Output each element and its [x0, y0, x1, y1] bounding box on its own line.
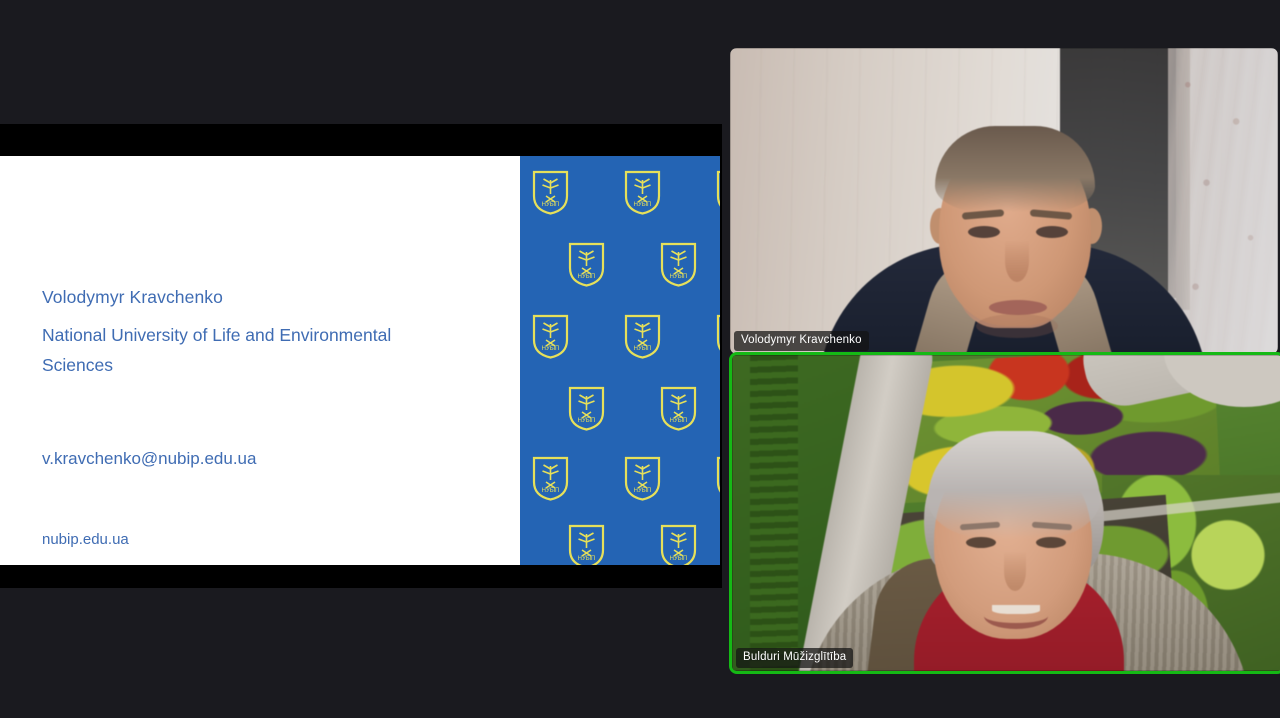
crest-row: НУБіП НУБіП НУБіП: [520, 314, 720, 359]
person-eye-left: [966, 537, 996, 548]
svg-text:НУБіП: НУБіП: [670, 418, 688, 424]
curtain-pattern: [1168, 48, 1278, 354]
slide-crest-pattern-panel: НУБіП НУБіП НУБіП НУБіП НУБіП: [520, 156, 720, 565]
person-nose: [1004, 551, 1026, 591]
crest-row: НУБіП НУБіП: [520, 386, 720, 431]
university-crest-icon: НУБіП: [568, 242, 605, 287]
person-eye-left: [968, 226, 1000, 238]
person-nose: [1005, 240, 1029, 282]
svg-text:НУБіП: НУБіП: [634, 202, 652, 208]
shared-screen-region[interactable]: Volodymyr Kravchenko National University…: [0, 124, 722, 588]
meeting-stage: Volodymyr Kravchenko National University…: [0, 0, 1280, 718]
person-mouth: [984, 603, 1048, 629]
svg-text:НУБіП: НУБіП: [542, 488, 560, 494]
crest-row: НУБіП НУБіП: [520, 524, 720, 565]
slide-organization: National University of Life and Environm…: [42, 320, 442, 380]
university-crest-icon: НУБіП: [624, 170, 661, 215]
university-crest-icon: НУБіП: [660, 524, 697, 565]
university-crest-icon: НУБіП: [624, 456, 661, 501]
hedge-row: [750, 355, 798, 671]
svg-text:НУБіП: НУБіП: [578, 418, 596, 424]
svg-text:НУБіП: НУБіП: [670, 556, 688, 562]
university-crest-icon: НУБіП: [716, 170, 720, 215]
participant-tile-bulduri-muzizglitiba[interactable]: Bulduri Mūžizglītība: [729, 352, 1280, 674]
svg-text:НУБіП: НУБіП: [578, 274, 596, 280]
video-feed: [732, 355, 1280, 671]
university-crest-icon: НУБіП: [532, 170, 569, 215]
crest-row: НУБіП НУБіП НУБіП: [520, 170, 720, 215]
participant-nameplate: Volodymyr Kravchenko: [734, 331, 869, 351]
slide-email: v.kravchenko@nubip.edu.ua: [42, 446, 492, 472]
university-crest-icon: НУБіП: [532, 456, 569, 501]
university-crest-icon: НУБіП: [716, 314, 720, 359]
university-crest-icon: НУБіП: [532, 314, 569, 359]
participant-nameplate: Bulduri Mūžizglītība: [736, 648, 853, 668]
person-mouth: [989, 300, 1047, 315]
crest-row: НУБіП НУБіП: [520, 242, 720, 287]
person-eye-right: [1036, 226, 1068, 238]
svg-text:НУБіП: НУБіП: [578, 556, 596, 562]
participant-tile-volodymyr-kravchenko[interactable]: Volodymyr Kravchenko: [730, 48, 1278, 354]
curtain: [1168, 48, 1278, 354]
university-crest-icon: НУБіП: [716, 456, 720, 501]
person-eye-right: [1036, 537, 1066, 548]
person-chin: [976, 314, 1058, 338]
video-feed: [730, 48, 1278, 354]
presentation-slide[interactable]: Volodymyr Kravchenko National University…: [0, 156, 720, 565]
person-hair: [935, 126, 1095, 212]
svg-text:НУБіП: НУБіП: [670, 274, 688, 280]
university-crest-icon: НУБіП: [660, 386, 697, 431]
slide-text-block: Volodymyr Kravchenko National University…: [42, 282, 492, 552]
svg-text:НУБіП: НУБіП: [634, 346, 652, 352]
person-hair: [928, 431, 1100, 539]
university-crest-icon: НУБіП: [568, 386, 605, 431]
crest-row: НУБіП НУБіП НУБіП: [520, 456, 720, 501]
university-crest-icon: НУБіП: [624, 314, 661, 359]
svg-text:НУБіП: НУБіП: [542, 202, 560, 208]
university-crest-icon: НУБіП: [660, 242, 697, 287]
slide-text-column: Volodymyr Kravchenko National University…: [0, 156, 520, 565]
svg-text:НУБіП: НУБіП: [634, 488, 652, 494]
slide-presenter-name: Volodymyr Kravchenko: [42, 282, 492, 312]
slide-website: nubip.edu.ua: [42, 528, 492, 552]
svg-text:НУБіП: НУБіП: [542, 346, 560, 352]
university-crest-icon: НУБіП: [568, 524, 605, 565]
